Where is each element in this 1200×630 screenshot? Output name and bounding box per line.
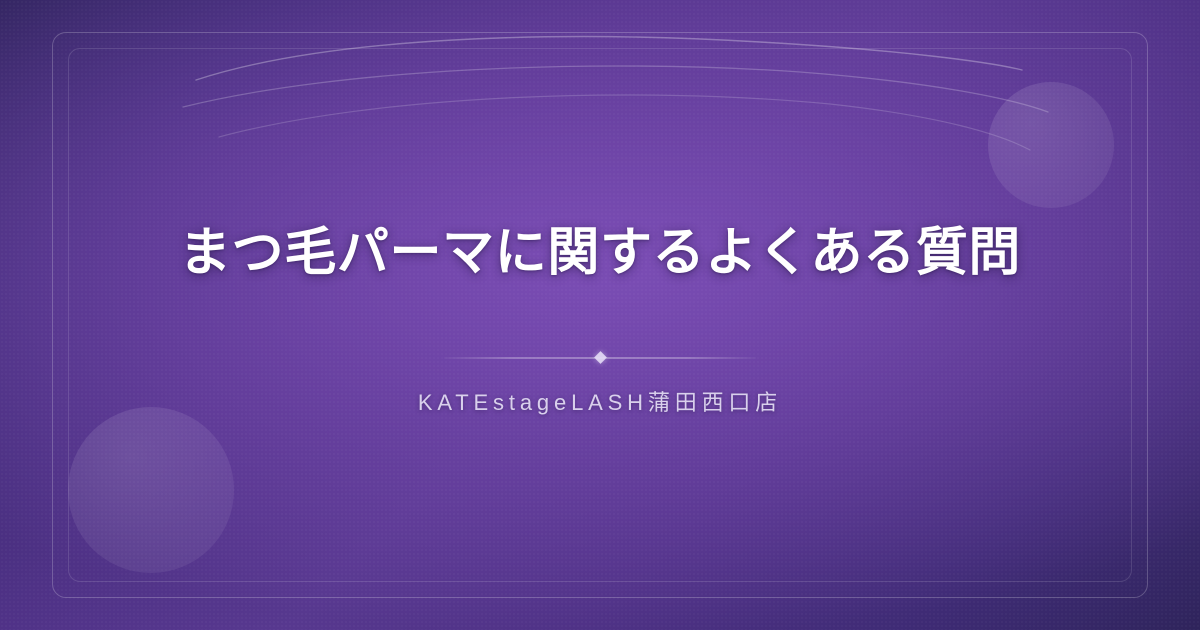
- og-image-card: まつ毛パーマに関するよくある質問 KATEstageLASH蒲田西口店: [0, 0, 1200, 630]
- brand-subtitle: KATEstageLASH蒲田西口店: [418, 385, 782, 417]
- page-title: まつ毛パーマに関するよくある質問: [179, 219, 1021, 289]
- card-content: まつ毛パーマに関するよくある質問 KATEstageLASH蒲田西口店: [0, 0, 1200, 630]
- diamond-icon: [594, 351, 607, 364]
- divider-ornament: [444, 351, 756, 365]
